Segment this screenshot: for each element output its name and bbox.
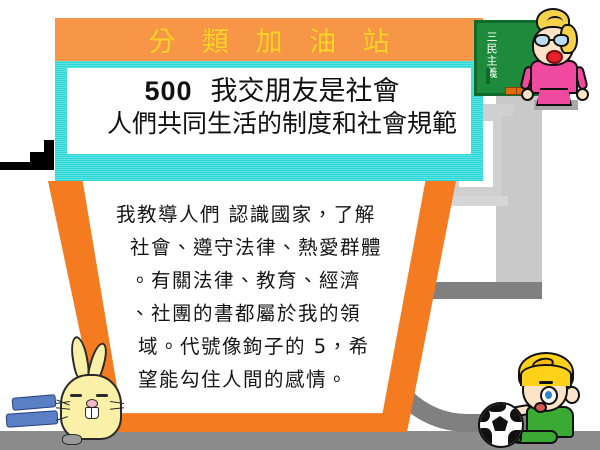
teacher-mouth <box>546 50 563 64</box>
header-title: 分 類 加 油 站 <box>139 20 398 59</box>
title-card-number: 500 <box>144 76 192 106</box>
title-card-heading: 我交朋友是社會 <box>211 76 400 107</box>
title-card: 500我交朋友是社會 人們共同生活的制度和社會規範 <box>67 68 471 154</box>
body-line: 。有關法律、教育、經濟 <box>116 264 428 297</box>
ball-patch <box>510 408 524 422</box>
title-card-subheading: 人們共同生活的制度和社會規範 <box>67 109 471 139</box>
body-line: 我教導人們 認識國家，了解 <box>116 198 428 231</box>
ball-patch <box>508 430 524 446</box>
scaffold-post <box>496 96 542 294</box>
teacher-clipart: 三民主義 <box>474 4 596 108</box>
soccer-ball-icon <box>478 402 524 448</box>
title-card-frame: 500我交朋友是社會 人們共同生活的制度和社會規範 <box>55 61 483 169</box>
boy-soccer-clipart <box>478 352 596 448</box>
rabbit-teeth <box>85 407 99 419</box>
glasses-lens-right <box>553 34 569 47</box>
rabbit-foot <box>62 434 82 445</box>
body-line: 域。代號像鉤子的 5，希 <box>116 330 428 363</box>
ball-patch <box>478 408 490 422</box>
blackboard-leg-left <box>486 68 490 84</box>
blackboard-text: 三民主義 <box>482 31 498 79</box>
title-card-heading-row: 500我交朋友是社會 <box>67 75 471 109</box>
teacher-hand-right <box>576 88 589 101</box>
body-line: 望能勾住人間的感情。 <box>116 363 428 396</box>
boy-eyebrow <box>539 381 553 384</box>
scaffold-shelf <box>448 196 508 206</box>
body-line: 社會、遵守法律、熱愛群體 <box>116 231 428 264</box>
boy-mouth <box>534 402 547 413</box>
doodle-row <box>6 410 59 428</box>
slide-canvas: 我教導人們 認識國家，了解 社會、遵守法律、熱愛群體 。有關法律、教育、經濟 、… <box>0 0 600 450</box>
body-paragraph: 我教導人們 認識國家，了解 社會、遵守法律、熱愛群體 。有關法律、教育、經濟 、… <box>116 198 428 396</box>
cyan-shelf-bar <box>55 169 483 181</box>
rabbit-eye-right <box>96 394 108 397</box>
body-line: 、社團的書都屬於我的領 <box>116 297 428 330</box>
glasses-lens-left <box>534 34 550 47</box>
teacher-skirt <box>536 88 572 106</box>
rabbit-eye-left <box>70 394 82 397</box>
teacher-glasses-icon <box>534 34 574 47</box>
header-bar: 分 類 加 油 站 <box>55 18 483 61</box>
doodle-row <box>12 394 57 411</box>
step-segment-upper <box>44 140 54 170</box>
step-segment-lower <box>0 162 34 170</box>
ball-patch <box>492 416 508 431</box>
ball-patch <box>478 428 492 446</box>
blue-doodle-graphic <box>6 396 64 432</box>
teacher-hand-left <box>521 88 534 101</box>
